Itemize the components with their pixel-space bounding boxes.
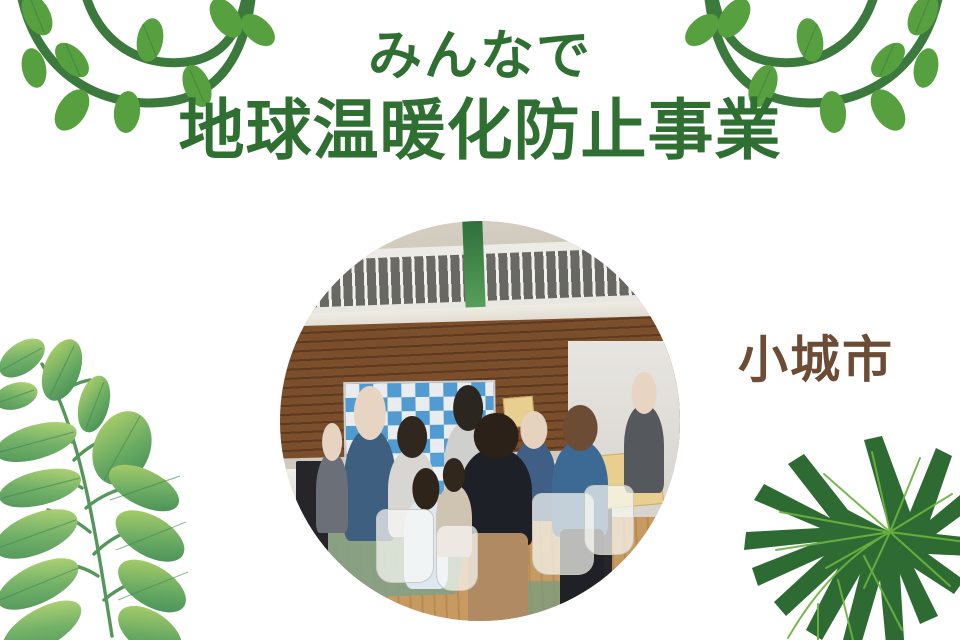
watercolor-branch-icon [0, 336, 244, 640]
photo-plastic-bag-center [376, 509, 434, 583]
poster-canvas: みんなで 地球温暖化防止事業 小城市 [0, 0, 960, 640]
photo-person-child-left [316, 453, 348, 533]
city-name-label: 小城市 [738, 332, 894, 390]
photo-plastic-bag-right2 [584, 485, 634, 555]
event-photo-circle [280, 221, 680, 621]
vine-garland-left-icon [0, 0, 290, 176]
photo-person-far-right [624, 405, 664, 493]
monstera-leaf-icon [714, 434, 960, 640]
photo-green-curtain [462, 221, 485, 309]
vine-garland-right-icon [670, 0, 960, 176]
photo-plastic-bag-mid [436, 525, 478, 591]
event-photo-scene [280, 221, 680, 621]
